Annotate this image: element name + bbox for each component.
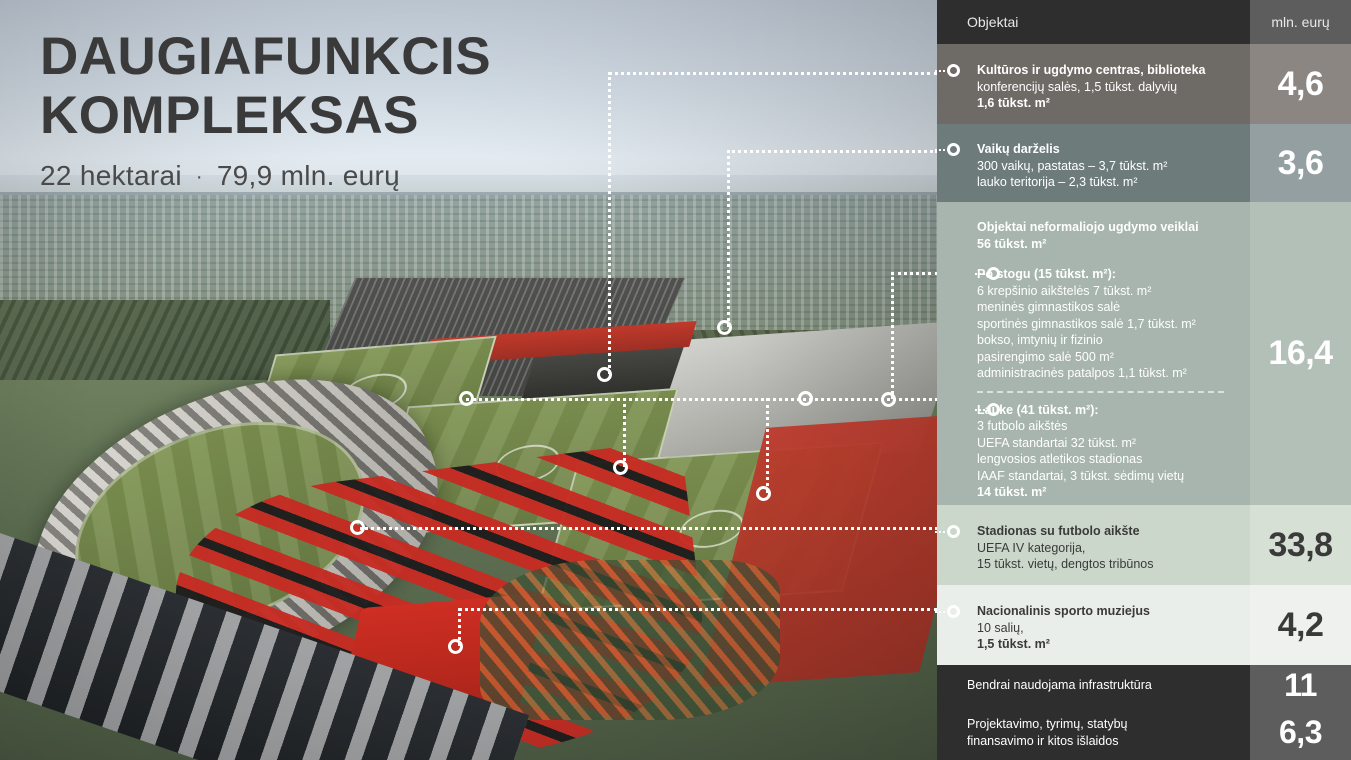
- bullet-leader-line: [935, 531, 945, 533]
- callout-line-postogu-v: [891, 272, 894, 399]
- bullet-marker: [987, 267, 1000, 280]
- table-header-row: Objektai mln. eurų: [937, 0, 1351, 44]
- aerial-render-image: DAUGIAFUNKCIS KOMPLEKSAS 22 hektarai·79,…: [0, 0, 937, 760]
- title-line-2: KOMPLEKSAS: [40, 89, 491, 142]
- callout-marker-lauke-d: [756, 486, 771, 501]
- callout-marker-vaiku-darzelis: [717, 320, 732, 335]
- footer-description-infrastruktura: Bendrai naudojama infrastruktūra: [937, 665, 1250, 705]
- callout-line-lauke-v2: [766, 398, 769, 493]
- bullet-marker: [947, 605, 960, 618]
- subtitle-area: 22 hektarai: [40, 160, 182, 191]
- row-title: Vaikų darželis: [977, 141, 1236, 158]
- row-detail-line-2: 1,6 tūkst. m²: [977, 96, 1050, 110]
- row-title: Objektai neformaliojo ugdymo veiklai: [977, 219, 1236, 236]
- callout-line-lauke-v1: [623, 398, 626, 467]
- row-detail-line-2: 1,5 tūkst. m²: [977, 637, 1050, 651]
- callout-line-muziejus-h: [458, 608, 937, 611]
- callout-line-darzelis-h: [727, 150, 937, 153]
- subtitle: 22 hektarai·79,9 mln. eurų: [40, 160, 491, 192]
- row-value-vaiku-darzelis: 3,6: [1250, 124, 1351, 202]
- row-description-muziejus: Nacionalinis sporto muziejus 10 salių, 1…: [937, 585, 1250, 665]
- subtitle-cost: 79,9 mln. eurų: [217, 160, 400, 191]
- row-detail-line-1: konferencijų salės, 1,5 tūkst. dalyvių: [977, 80, 1177, 94]
- group-line: sportinės gimnastikos salė 1,7 tūkst. m²: [977, 317, 1196, 331]
- bullet-marker: [947, 525, 960, 538]
- group-line: UEFA standartai 32 tūkst. m²: [977, 436, 1136, 450]
- row-detail-line-1: 10 salių,: [977, 621, 1024, 635]
- callout-line-lauke-h1: [466, 398, 937, 401]
- table-footer-row[interactable]: Projektavimo, tyrimų, statybų finansavim…: [937, 705, 1351, 760]
- group-line: 14 tūkst. m²: [977, 485, 1046, 499]
- row-subtitle: 56 tūkst. m²: [977, 237, 1046, 251]
- callout-line-kulturos-v: [608, 72, 611, 374]
- callout-marker-muziejus: [448, 639, 463, 654]
- footer-value-islaidos: 6,3: [1250, 705, 1351, 760]
- bullet-leader-line: [935, 611, 945, 613]
- subtitle-separator: ·: [182, 166, 217, 188]
- footer-value-infrastruktura: 11: [1250, 665, 1351, 705]
- row-description-neformalus-ugdymas: Objektai neformaliojo ugdymo veiklai 56 …: [937, 202, 1250, 505]
- callout-line-kulturos-h: [608, 72, 937, 75]
- callout-marker-kulturos-centras: [597, 367, 612, 382]
- group-divider: [977, 391, 1224, 393]
- row-description-vaiku-darzelis: Vaikų darželis 300 vaikų, pastatas – 3,7…: [937, 124, 1250, 202]
- table-row[interactable]: Stadionas su futbolo aikšte UEFA IV kate…: [937, 505, 1351, 585]
- row-title: Stadionas su futbolo aikšte: [977, 523, 1236, 540]
- group-line: pasirengimo salė 500 m²: [977, 350, 1114, 364]
- table-row[interactable]: Nacionalinis sporto muziejus 10 salių, 1…: [937, 585, 1351, 665]
- row-description-kulturos-centras: Kultūros ir ugdymo centras, biblioteka k…: [937, 44, 1250, 124]
- bullet-leader-line: [935, 70, 945, 72]
- bullet-leader-line: [935, 149, 945, 151]
- callout-line-darzelis-v: [727, 150, 730, 327]
- title-line-1: DAUGIAFUNKCIS: [40, 30, 491, 83]
- group-line: bokso, imtynių ir fizinio: [977, 333, 1103, 347]
- footer-text-line-1: Projektavimo, tyrimų, statybų: [967, 716, 1236, 733]
- group-heading: Po stogu (15 tūkst. m²):: [977, 266, 1236, 283]
- page-title-block: DAUGIAFUNKCIS KOMPLEKSAS 22 hektarai·79,…: [40, 30, 491, 192]
- table-row[interactable]: Objektai neformaliojo ugdymo veiklai 56 …: [937, 202, 1351, 505]
- callout-marker-lauke-c: [613, 460, 628, 475]
- group-heading: Lauke (41 tūkst. m²):: [977, 402, 1236, 419]
- bullet-leader-line: [975, 273, 985, 275]
- row-description-stadionas: Stadionas su futbolo aikšte UEFA IV kate…: [937, 505, 1250, 585]
- group-po-stogu: Po stogu (15 tūkst. m²): 6 krepšinio aik…: [977, 266, 1236, 382]
- bullet-marker: [987, 403, 1000, 416]
- row-title: Nacionalinis sporto muziejus: [977, 603, 1236, 620]
- row-value-neformalus-ugdymas: 16,4: [1250, 202, 1351, 505]
- group-lauke: Lauke (41 tūkst. m²): 3 futbolo aikštės …: [977, 402, 1236, 501]
- footer-text: Bendrai naudojama infrastruktūra: [967, 677, 1152, 694]
- group-line: IAAF standartai, 3 tūkst. sėdimų vietų: [977, 469, 1184, 483]
- bullet-leader-line: [975, 409, 985, 411]
- callout-marker-stadionas: [350, 520, 365, 535]
- callout-marker-lauke-a: [459, 391, 474, 406]
- objects-cost-table: Objektai mln. eurų Kultūros ir ugdymo ce…: [937, 0, 1351, 760]
- row-detail-line-1: UEFA IV kategorija,: [977, 541, 1085, 555]
- group-line: administracinės patalpos 1,1 tūkst. m²: [977, 366, 1187, 380]
- row-detail-line-1: 300 vaikų, pastatas – 3,7 tūkst. m²: [977, 159, 1167, 173]
- row-value-muziejus: 4,2: [1250, 585, 1351, 665]
- footer-text-line-2: finansavimo ir kitos išlaidos: [967, 733, 1236, 750]
- callout-line-postogu-h: [891, 272, 937, 275]
- infographic-page: DAUGIAFUNKCIS KOMPLEKSAS 22 hektarai·79,…: [0, 0, 1351, 760]
- callout-line-stadionas-h: [360, 527, 937, 530]
- table-row[interactable]: Vaikų darželis 300 vaikų, pastatas – 3,7…: [937, 124, 1351, 202]
- group-line: 3 futbolo aikštės: [977, 419, 1067, 433]
- table-header-objects: Objektai: [937, 0, 1250, 44]
- bullet-marker: [947, 143, 960, 156]
- row-detail-line-2: lauko teritorija – 2,3 tūkst. m²: [977, 175, 1137, 189]
- group-line: 6 krepšinio aikštelės 7 tūkst. m²: [977, 284, 1151, 298]
- bullet-marker: [947, 64, 960, 77]
- row-detail-line-2: 15 tūkst. vietų, dengtos tribūnos: [977, 557, 1154, 571]
- group-line: meninės gimnastikos salė: [977, 300, 1120, 314]
- table-header-value: mln. eurų: [1250, 0, 1351, 44]
- callout-marker-lauke-b: [798, 391, 813, 406]
- group-line: lengvosios atletikos stadionas: [977, 452, 1142, 466]
- row-title: Kultūros ir ugdymo centras, biblioteka: [977, 62, 1236, 79]
- table-row[interactable]: Kultūros ir ugdymo centras, biblioteka k…: [937, 44, 1351, 124]
- footer-description-islaidos: Projektavimo, tyrimų, statybų finansavim…: [937, 705, 1250, 760]
- row-value-stadionas: 33,8: [1250, 505, 1351, 585]
- table-footer-row[interactable]: Bendrai naudojama infrastruktūra 11: [937, 665, 1351, 705]
- row-value-kulturos-centras: 4,6: [1250, 44, 1351, 124]
